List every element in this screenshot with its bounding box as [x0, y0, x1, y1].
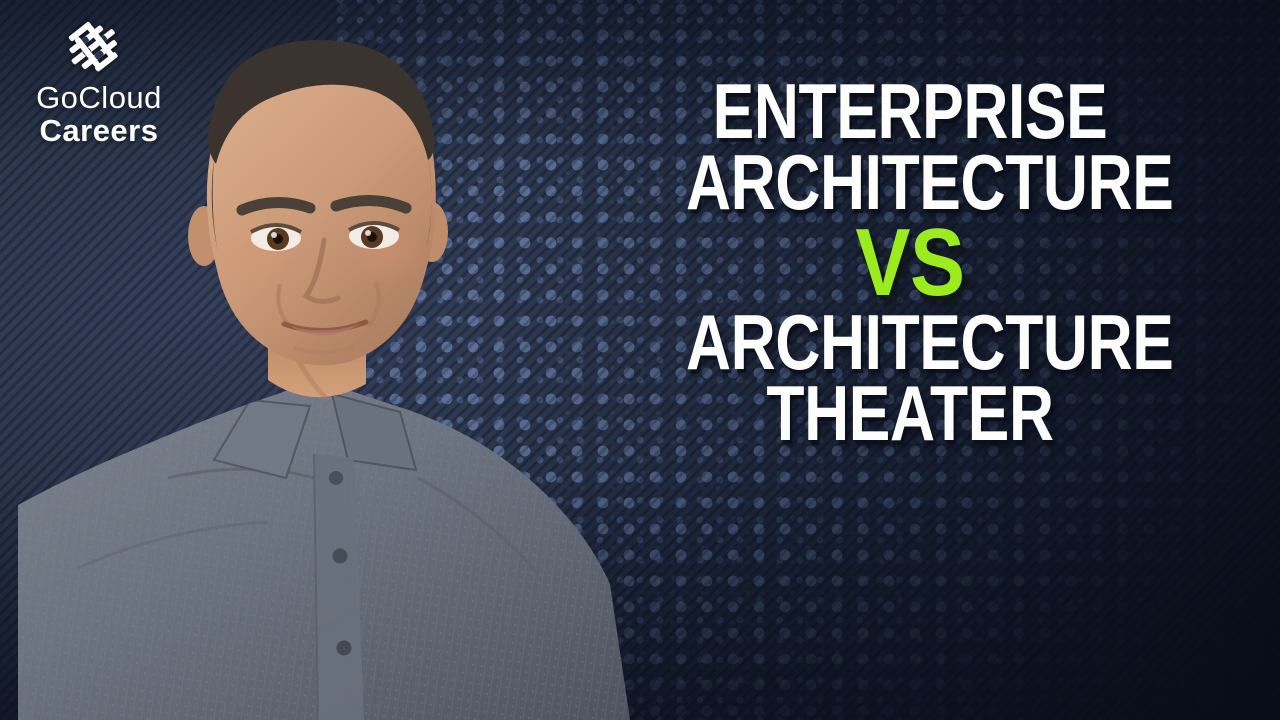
brand-name-secondary: Careers [14, 115, 184, 148]
headline-versus: VS [669, 222, 1151, 305]
thumbnail-canvas: GoCloud Careers ENTERPRISE ARCHITECTURE … [0, 0, 1280, 720]
headline-line-4: THEATER [686, 380, 1134, 447]
shirt-button [333, 549, 348, 564]
subject-eye-right [349, 223, 399, 249]
brand-name-primary: GoCloud [14, 82, 184, 115]
headline-line-3: ARCHITECTURE [686, 309, 1134, 376]
brand-logo[interactable]: GoCloud Careers [14, 16, 184, 147]
gocloud-mark-icon [56, 16, 142, 76]
shirt-button [329, 471, 343, 485]
subject-shirt [18, 368, 638, 720]
shirt-button [337, 641, 352, 656]
headline-block: ENTERPRISE ARCHITECTURE VS ARCHITECTURE … [630, 78, 1190, 447]
headline-line-2: ARCHITECTURE [686, 149, 1134, 216]
subject-head [207, 40, 436, 366]
headline-line-1: ENTERPRISE [686, 78, 1134, 145]
subject-eye-left [251, 225, 301, 251]
